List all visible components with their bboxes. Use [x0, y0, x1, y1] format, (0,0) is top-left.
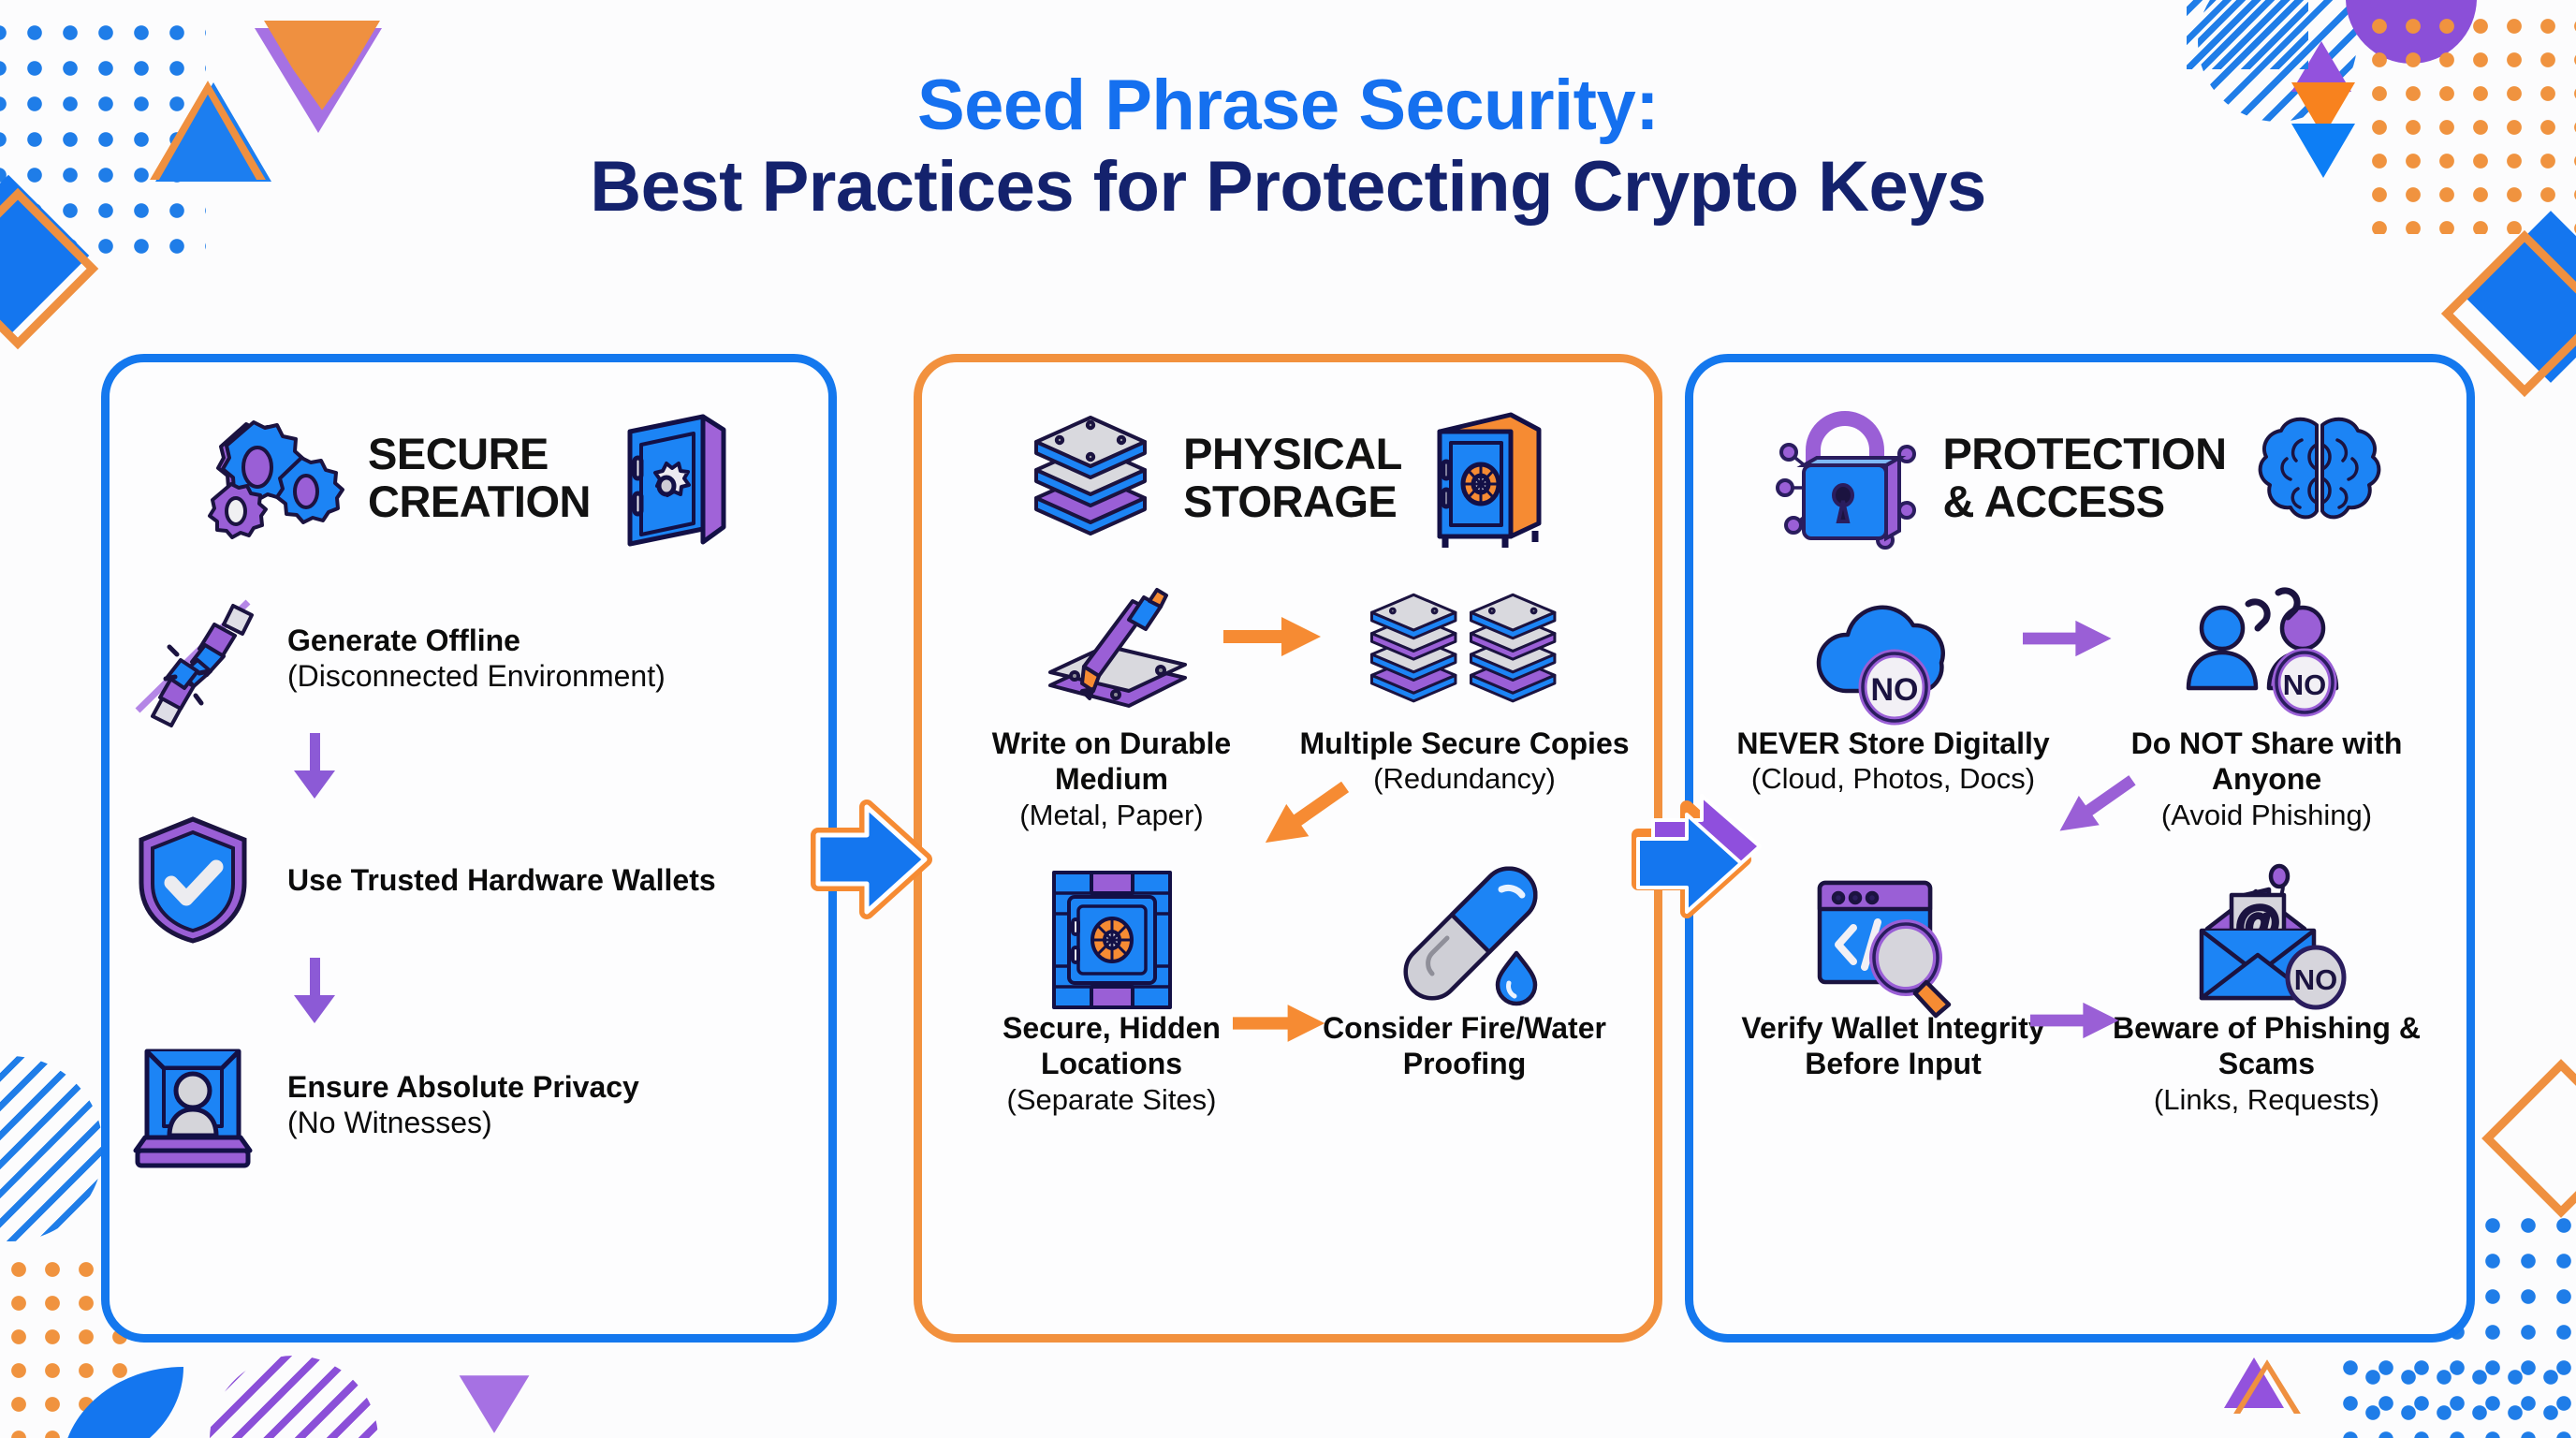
diamond-outline-orange-bottom-right-icon: [2481, 1059, 2576, 1218]
panel-2-item-1-label: Write on Durable Medium: [935, 726, 1288, 798]
connector-panel-2-to-3: [1636, 794, 1786, 934]
panel-2-items-row2: Secure, Hidden Locations (Separate Sites…: [922, 870, 1654, 1117]
panel-2-item-4-label: Consider Fire/Water Proofing: [1288, 1010, 1641, 1082]
panel-1-item-2-text: Use Trusted Hardware Wallets: [287, 862, 716, 898]
infographic-canvas: Seed Phrase Security: Best Practices for…: [0, 0, 2576, 1438]
panel-1-title: SECURE CREATION: [368, 431, 591, 526]
panel-1-arrow-2: [0, 958, 828, 1023]
panel-2-item-3-sub: (Separate Sites): [935, 1082, 1288, 1117]
panel-3-items-row2: Verify Wallet Integrity Before Input @: [1693, 870, 2466, 1117]
panel-1-header: SECURE CREATION: [110, 362, 828, 568]
no-badge-label: NO: [1870, 672, 1918, 708]
safe-cabinet-icon: [1425, 404, 1556, 553]
phishing-email-no-icon: @ NO: [2080, 870, 2453, 1010]
panel-3-title: PROTECTION & ACCESS: [1942, 431, 2226, 526]
dot-grid-far-bottom-right-icon: [2355, 1359, 2576, 1438]
panel-2-item-4[interactable]: Consider Fire/Water Proofing: [1288, 870, 1641, 1117]
panel-1-item-1-text: Generate Offline (Disconnected Environme…: [287, 623, 666, 695]
panel-3-item-4-label: Beware of Phishing & Scams: [2080, 1010, 2453, 1082]
title-line-1: Seed Phrase Security:: [0, 66, 2576, 145]
panel-3-item-4[interactable]: @ NO Beware of Phishing & Scams (Links, …: [2080, 870, 2453, 1117]
panel-3-arrow-right-2: [2030, 999, 2124, 1042]
no-badge-label: NO: [2282, 668, 2326, 701]
panel-2-header: PHYSICAL STORAGE: [922, 362, 1654, 568]
metal-plates-stack-icon: [1020, 408, 1161, 549]
panel-physical-storage[interactable]: PHYSICAL STORAGE: [914, 354, 1662, 1343]
stripes-blue-far-top-right-icon: [2187, 0, 2308, 69]
panel-2-title: PHYSICAL STORAGE: [1183, 431, 1402, 526]
panel-2-item-1-sub: (Metal, Paper): [935, 798, 1288, 832]
panel-protection-access[interactable]: PROTECTION & ACCESS: [1685, 354, 2475, 1343]
panel-1-arrow-1: [0, 733, 828, 799]
wall-safe-icon: [935, 870, 1288, 1010]
connector-panel-1-to-2: [816, 794, 966, 934]
stripes-blue-bottom-left-icon: [0, 1056, 103, 1241]
panel-1-item-3[interactable]: Ensure Absolute Privacy (No Witnesses): [123, 1034, 828, 1175]
circle-purple-top-right-icon: [2346, 0, 2477, 64]
no-badge-label: NO: [2293, 963, 2337, 996]
panel-3-arrow-right-1: [2023, 617, 2116, 660]
two-people-no-icon: NO: [2080, 585, 2453, 726]
brain-icon: [2249, 408, 2390, 549]
privacy-booth-icon: [123, 1034, 263, 1175]
triangle-outline-orange-bottom-right-icon: [2233, 1359, 2301, 1414]
panel-3-item-4-sub: (Links, Requests): [2080, 1082, 2453, 1117]
panel-2-item-2-label: Multiple Secure Copies: [1288, 726, 1641, 761]
safe-door-icon: [613, 404, 733, 553]
capsule-waterdrop-icon: [1288, 870, 1641, 1010]
gears-icon: [205, 413, 345, 544]
page-title: Seed Phrase Security: Best Practices for…: [0, 66, 2576, 229]
shield-check-icon: [123, 810, 263, 950]
diamond-blue-right-icon: [2465, 211, 2576, 383]
leaf-blue-bottom-left-icon: [62, 1367, 183, 1438]
disconnected-cable-icon: [123, 593, 263, 724]
two-plate-stacks-icon: [1288, 585, 1641, 726]
cyber-padlock-icon: [1770, 404, 1920, 553]
panel-3-header: PROTECTION & ACCESS: [1693, 362, 2466, 568]
panel-1-item-3-text: Ensure Absolute Privacy (No Witnesses): [287, 1069, 639, 1141]
panel-2-item-3[interactable]: Secure, Hidden Locations (Separate Sites…: [935, 870, 1288, 1117]
panel-2-arrow-right-2: [1233, 1001, 1330, 1046]
panel-3-item-1-sub: (Cloud, Photos, Docs): [1706, 761, 2080, 796]
panel-1-item-2[interactable]: Use Trusted Hardware Wallets: [123, 810, 828, 950]
panel-secure-creation[interactable]: SECURE CREATION: [101, 354, 837, 1343]
panel-3-item-1-label: NEVER Store Digitally: [1706, 726, 2080, 761]
panel-1-item-1[interactable]: Generate Offline (Disconnected Environme…: [123, 593, 828, 724]
panel-3-item-3-label: Verify Wallet Integrity Before Input: [1706, 1010, 2080, 1082]
stripes-purple-bottom-left-icon: [210, 1356, 378, 1438]
triangle-purple-down-bottom-left-icon: [460, 1375, 530, 1433]
title-line-2: Best Practices for Protecting Crypto Key…: [0, 145, 2576, 229]
panel-2-arrow-right-1: [1223, 613, 1326, 660]
triangle-purple-up-bottom-right-icon: [2224, 1357, 2284, 1408]
